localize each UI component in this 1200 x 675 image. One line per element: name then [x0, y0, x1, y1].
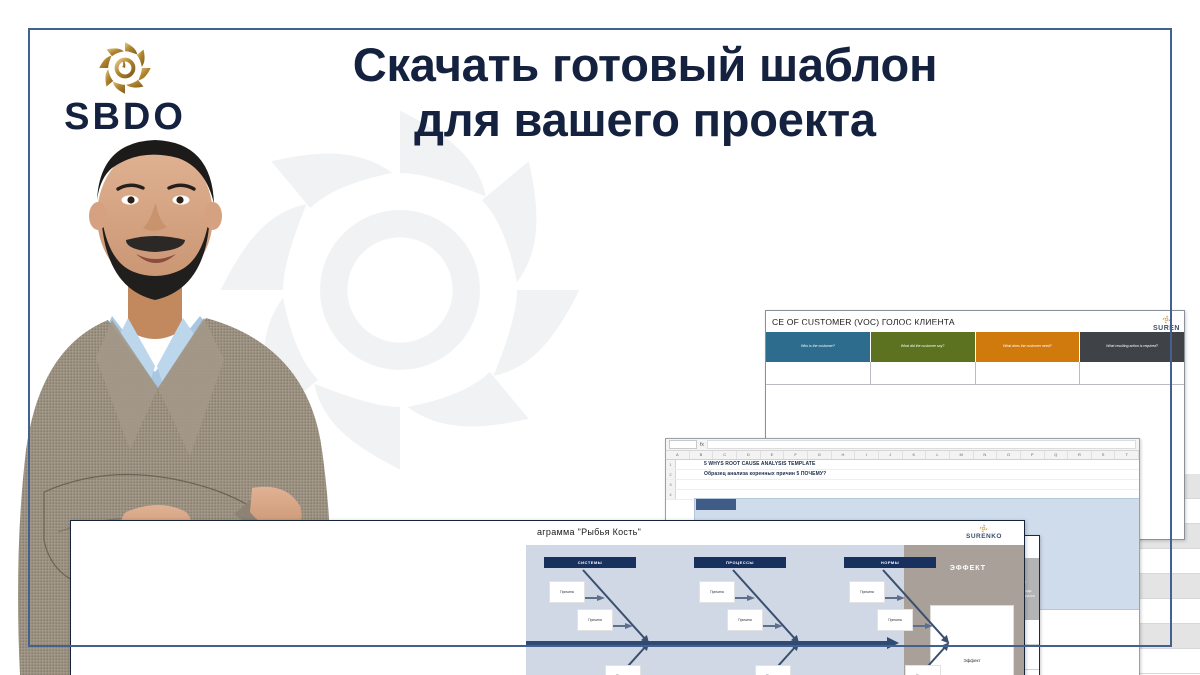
col-header[interactable]: K: [903, 451, 927, 459]
surenko-brand-voc: SUREN: [1153, 315, 1180, 332]
col-header[interactable]: Q: [1045, 451, 1069, 459]
col-header[interactable]: M: [950, 451, 974, 459]
row-number: 3: [666, 480, 676, 489]
fishbone-canvas: ЭФФЕКТ Эффект СИСТЕМЫ ПРОЦЕССЫ НОРМЫ При…: [71, 545, 1024, 675]
fishbone-cause[interactable]: Причина: [605, 665, 641, 675]
voc-col-ru: КЛЮЧЕВАЯ ПРОБЛЕМА (ПРОБЛЕМЫ) КЛИЕНТА: [983, 328, 1072, 332]
sbdo-emblem-icon: [97, 40, 153, 96]
fishbone-left-mask: [71, 545, 526, 675]
row-number: 2: [666, 470, 676, 479]
cause-arrow-icon: [613, 616, 633, 622]
fishbone-category[interactable]: СИСТЕМЫ: [544, 557, 636, 568]
voc-column-header: VOICE OF THE CUSTOMER ГОЛОС КЛИЕНТА What…: [871, 332, 976, 362]
col-header[interactable]: A: [666, 451, 690, 459]
cause-arrow-icon: [913, 616, 933, 622]
sheet-grid: 1 5 WHYS ROOT CAUSE ANALYSIS TEMPLATE 2 …: [666, 460, 1139, 500]
cause-arrow-icon: [585, 588, 605, 594]
fishbone-category[interactable]: ПРОЦЕССЫ: [694, 557, 786, 568]
voc-col-ru: АУДИТОРИЯ (ЛИ) КЛИЕНТА: [793, 328, 844, 332]
col-header[interactable]: L: [926, 451, 950, 459]
surenko-brand-fishbone: SURENKO: [966, 524, 1002, 541]
fishbone-cause[interactable]: Причина: [699, 581, 735, 603]
col-header[interactable]: J: [879, 451, 903, 459]
voc-column-header: KEY CUSTOMER ISSUE(S) КЛЮЧЕВАЯ ПРОБЛЕМА …: [976, 332, 1081, 362]
fishbone-title: аграмма "Рыбья Кость": [537, 527, 641, 537]
col-header[interactable]: P: [1021, 451, 1045, 459]
voc-column-header: CUSTOMER IDENTITY АУДИТОРИЯ (ЛИ) КЛИЕНТА…: [766, 332, 871, 362]
col-header[interactable]: G: [808, 451, 832, 459]
col-header[interactable]: R: [1068, 451, 1092, 459]
col-header[interactable]: E: [761, 451, 785, 459]
five-whys-title-en: 5 WHYS ROOT CAUSE ANALYSIS TEMPLATE: [676, 460, 815, 469]
fx-icon: fx: [700, 442, 704, 448]
voc-col-ru: ГОЛОС КЛИЕНТА: [907, 328, 939, 332]
surenko-brand-label: SURENKO: [966, 533, 1002, 540]
surenko-brand-label: SUREN: [1153, 325, 1180, 332]
voc-column-header: CRITICAL CUSTOMER REQUIREMENT ВАЖНОЕ ТРЕ…: [1080, 332, 1184, 362]
col-header[interactable]: C: [713, 451, 737, 459]
voc-col-q-en: What does the customer need?: [1003, 344, 1052, 348]
surenko-emblem-icon: [979, 524, 988, 533]
fishbone-category[interactable]: НОРМЫ: [844, 557, 936, 568]
fishbone-cause[interactable]: Причина: [549, 581, 585, 603]
five-whys-header-block: [696, 499, 736, 510]
brand-name: SBDO: [62, 98, 188, 136]
fishbone-cause[interactable]: Причина: [905, 665, 941, 675]
fishbone-cause[interactable]: Причина: [727, 609, 763, 631]
sheet-row: 2 Образец анализа коренных причин 5 ПОЧЕ…: [666, 470, 1139, 480]
column-headers: A B C D E F G H I J K L M N O P Q R S T: [666, 451, 1139, 460]
brand-logo: SBDO: [62, 40, 188, 136]
name-box[interactable]: [669, 440, 697, 449]
fishbone-cause[interactable]: Причина: [755, 665, 791, 675]
col-header[interactable]: N: [974, 451, 998, 459]
voc-col-q-en: What resulting action is required?: [1106, 344, 1158, 348]
col-header[interactable]: F: [784, 451, 808, 459]
cause-arrow-icon: [735, 588, 755, 594]
fishbone-header: аграмма "Рыбья Кость" SURENKO: [71, 521, 1024, 545]
voc-col-q-en: Who is the customer?: [801, 344, 835, 348]
fishbone-cause[interactable]: Причина: [577, 609, 613, 631]
formula-bar[interactable]: fx: [666, 439, 1139, 451]
voc-empty-row[interactable]: [766, 362, 1184, 385]
row-number: 1: [666, 460, 676, 469]
col-header[interactable]: O: [997, 451, 1021, 459]
slide-root: SBDO Скачать готовый шаблон для вашего п…: [0, 0, 1200, 675]
formula-input[interactable]: [707, 440, 1136, 449]
fishbone-template-card[interactable]: аграмма "Рыбья Кость" SURENKO: [70, 520, 1025, 675]
sheet-row: 1 5 WHYS ROOT CAUSE ANALYSIS TEMPLATE: [666, 460, 1139, 470]
voc-col-q-en: What did the customer say?: [901, 344, 944, 348]
template-previews: CE OF CUSTOMER (VOC) ГОЛОС КЛИЕНТА SUREN…: [500, 290, 1200, 675]
surenko-emblem-icon: [1162, 315, 1171, 324]
col-header[interactable]: D: [737, 451, 761, 459]
headline-line-1: Скачать готовый шаблон: [353, 38, 938, 91]
page-title: Скачать готовый шаблон для вашего проект…: [250, 38, 1040, 148]
cause-arrow-icon: [763, 616, 783, 622]
fishbone-cause[interactable]: Причина: [849, 581, 885, 603]
headline-line-2: для вашего проекта: [250, 93, 1040, 148]
sheet-row: 3: [666, 480, 1139, 490]
col-header[interactable]: B: [690, 451, 714, 459]
five-whys-title-ru: Образец анализа коренных причин 5 ПОЧЕМУ…: [676, 470, 826, 479]
voc-header-row: CUSTOMER IDENTITY АУДИТОРИЯ (ЛИ) КЛИЕНТА…: [766, 332, 1184, 362]
col-header[interactable]: I: [855, 451, 879, 459]
row-number: 4: [666, 490, 676, 499]
col-header[interactable]: T: [1115, 451, 1139, 459]
fishbone-cause[interactable]: Причина: [877, 609, 913, 631]
col-header[interactable]: H: [832, 451, 856, 459]
fishbone-effect-heading: ЭФФЕКТ: [950, 565, 986, 572]
col-header[interactable]: S: [1092, 451, 1116, 459]
cause-arrow-icon: [885, 588, 905, 594]
